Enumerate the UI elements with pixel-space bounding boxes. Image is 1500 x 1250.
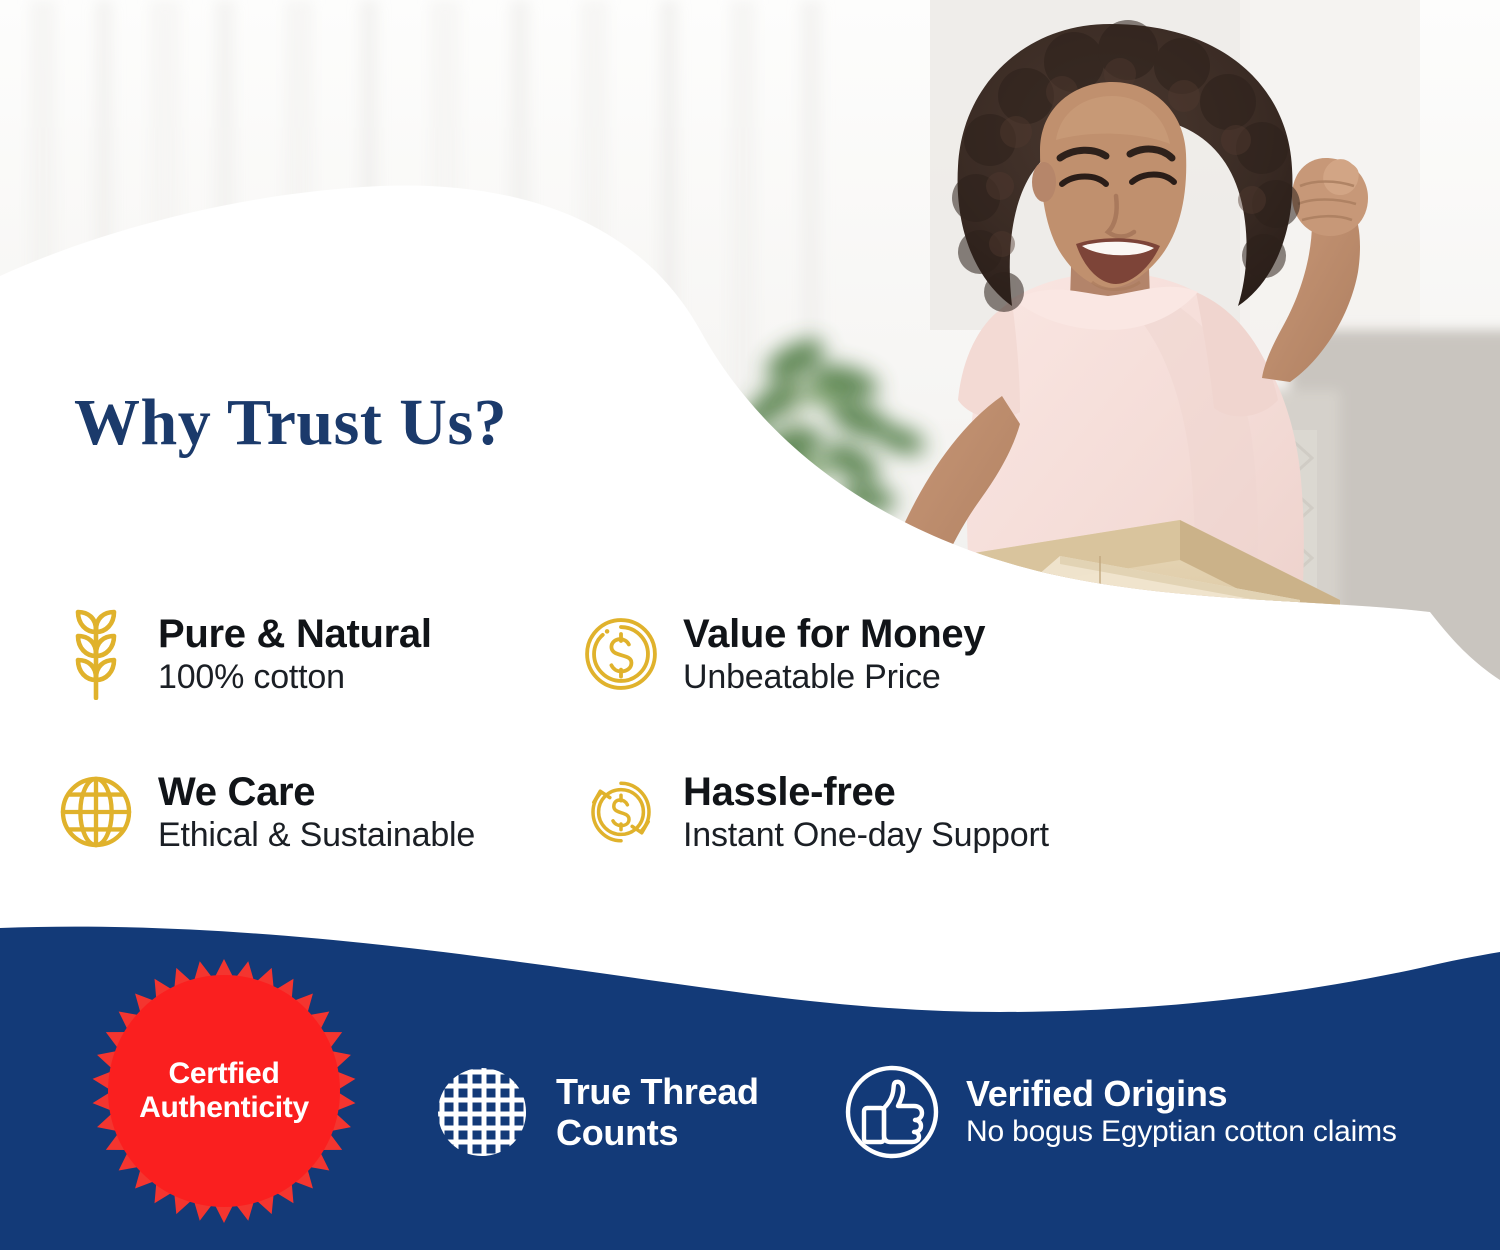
feature-we-care: We Care Ethical & Sustainable: [56, 766, 581, 858]
features-row-bottom: We Care Ethical & Sustainable: [56, 766, 1256, 858]
badge-line-1: Certfied: [169, 1057, 280, 1091]
wheat-icon: [56, 608, 136, 700]
woven-grid-icon-svg: [430, 1060, 534, 1164]
banner-title: True Thread Counts: [556, 1071, 856, 1153]
banner-text: Verified Origins No bogus Egyptian cotto…: [966, 1075, 1397, 1148]
feature-text: Value for Money Unbeatable Price: [683, 613, 985, 695]
globe-icon-svg: [56, 770, 136, 854]
features-grid: Pure & Natural 100% cotton: [56, 608, 1256, 858]
feature-subtitle: Instant One-day Support: [683, 817, 1049, 853]
money-back-icon: [581, 766, 661, 858]
hero-photo-illustration: [0, 0, 1500, 680]
money-back-icon-svg: [581, 770, 661, 854]
feature-text: Pure & Natural 100% cotton: [158, 613, 432, 695]
feature-pure-natural: Pure & Natural 100% cotton: [56, 608, 581, 700]
badge-line-2: Authenticity: [139, 1091, 309, 1125]
certified-authenticity-text: Certfied Authenticity: [88, 955, 360, 1227]
feature-text: We Care Ethical & Sustainable: [158, 771, 475, 853]
feature-subtitle: Unbeatable Price: [683, 659, 985, 695]
feature-subtitle: Ethical & Sustainable: [158, 817, 475, 853]
thumbs-up-circle-icon-svg: [840, 1060, 944, 1164]
feature-hassle-free: Hassle-free Instant One-day Support: [581, 766, 1049, 858]
feature-text: Hassle-free Instant One-day Support: [683, 771, 1049, 853]
coin-dollar-icon: [581, 608, 661, 700]
feature-value-for-money: Value for Money Unbeatable Price: [581, 608, 985, 700]
banner-subtitle: No bogus Egyptian cotton claims: [966, 1116, 1397, 1148]
infographic-canvas: Why Trust Us?: [0, 0, 1500, 1250]
hero-photo: [0, 0, 1500, 680]
banner-item-true-thread-counts: True Thread Counts: [430, 1060, 856, 1164]
feature-subtitle: 100% cotton: [158, 659, 432, 695]
feature-title: Hassle-free: [683, 771, 1049, 813]
woven-grid-icon: [430, 1060, 534, 1164]
feature-title: Pure & Natural: [158, 613, 432, 655]
banner-title: Verified Origins: [966, 1075, 1397, 1114]
thumbs-up-circle-icon: [840, 1060, 944, 1164]
feature-title: Value for Money: [683, 613, 985, 655]
banner-content: Certfied Authenticity: [0, 900, 1500, 1250]
wheat-icon-svg: [60, 608, 132, 700]
banner-item-verified-origins: Verified Origins No bogus Egyptian cotto…: [840, 1060, 1397, 1164]
certified-authenticity-badge: Certfied Authenticity: [88, 955, 360, 1227]
globe-icon: [56, 766, 136, 858]
features-row-top: Pure & Natural 100% cotton: [56, 608, 1256, 700]
coin-dollar-icon-svg: [581, 612, 661, 696]
banner-text: True Thread Counts: [556, 1071, 856, 1153]
feature-title: We Care: [158, 771, 475, 813]
page-title: Why Trust Us?: [74, 385, 507, 461]
